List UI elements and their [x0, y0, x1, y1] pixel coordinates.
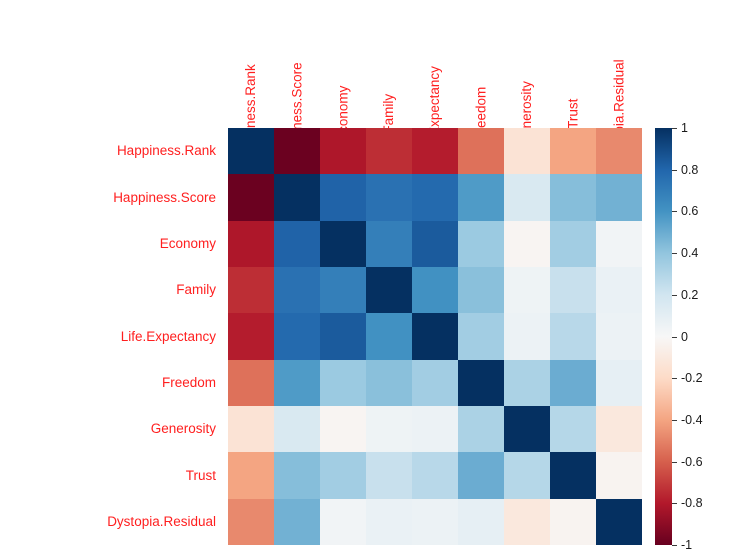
x-tick-label-happiness-rank: Happiness.Rank — [228, 0, 274, 120]
heatmap-cell — [274, 221, 320, 267]
colorbar-legend: 10.80.60.40.20-0.2-0.4-0.6-0.8-1 — [655, 128, 735, 545]
heatmap-cell — [550, 360, 596, 406]
x-tick-label-dystopia-residual: Dystopia.Residual — [596, 0, 642, 120]
heatmap-cell — [320, 267, 366, 313]
heatmap-cell — [274, 452, 320, 498]
colorbar-tick-mark — [672, 337, 677, 338]
heatmap-cell — [366, 221, 412, 267]
heatmap-cell — [320, 128, 366, 174]
colorbar-tick-label: 0.8 — [681, 163, 698, 176]
heatmap-cell — [596, 406, 642, 452]
heatmap-cell — [550, 313, 596, 359]
colorbar-tick-mark — [672, 462, 677, 463]
heatmap-cell — [412, 221, 458, 267]
x-tick-label-text: Trust — [566, 98, 580, 128]
heatmap-cell — [596, 267, 642, 313]
x-tick-label-trust: Trust — [550, 0, 596, 120]
heatmap-cell — [274, 128, 320, 174]
heatmap-cell — [504, 267, 550, 313]
heatmap-cell — [596, 174, 642, 220]
heatmap-cell — [274, 313, 320, 359]
heatmap-cell — [504, 174, 550, 220]
heatmap-cell — [504, 406, 550, 452]
colorbar-gradient — [655, 128, 672, 545]
heatmap-cell — [320, 452, 366, 498]
y-tick-label-economy: Economy — [160, 221, 216, 267]
x-tick-label-freedom: Freedom — [458, 0, 504, 120]
heatmap-cell — [366, 174, 412, 220]
heatmap-cell — [320, 313, 366, 359]
heatmap-cell — [228, 499, 274, 545]
heatmap-cell — [228, 406, 274, 452]
heatmap-cell — [504, 499, 550, 545]
colorbar-tick-label: 0.4 — [681, 247, 698, 260]
heatmap-cell — [596, 499, 642, 545]
y-tick-label-freedom: Freedom — [162, 360, 216, 406]
x-tick-label-happiness-score: Happiness.Score — [274, 0, 320, 120]
colorbar-tick-label: -0.2 — [681, 372, 703, 385]
heatmap-cell — [366, 499, 412, 545]
colorbar-tick-label: 1 — [681, 122, 688, 135]
heatmap-cell — [458, 406, 504, 452]
heatmap-cell — [458, 360, 504, 406]
heatmap-cell — [228, 174, 274, 220]
heatmap-cell — [366, 406, 412, 452]
heatmap-cell — [274, 360, 320, 406]
heatmap-grid — [228, 128, 642, 545]
heatmap-cell — [550, 452, 596, 498]
heatmap-cell — [504, 221, 550, 267]
heatmap-cell — [320, 499, 366, 545]
heatmap-cell — [412, 360, 458, 406]
heatmap-cell — [228, 128, 274, 174]
heatmap-cell — [596, 452, 642, 498]
x-tick-label-generosity: Generosity — [504, 0, 550, 120]
heatmap-cell — [320, 174, 366, 220]
y-tick-label-trust: Trust — [186, 452, 216, 498]
heatmap-cell — [228, 452, 274, 498]
colorbar-tick-label: -1 — [681, 539, 692, 552]
x-tick-label-family: Family — [366, 0, 412, 120]
heatmap-cell — [458, 499, 504, 545]
x-tick-label-economy: Economy — [320, 0, 366, 120]
y-tick-label-family: Family — [176, 267, 216, 313]
colorbar-tick-label: -0.8 — [681, 497, 703, 510]
heatmap-cell — [550, 499, 596, 545]
heatmap-cell — [550, 267, 596, 313]
colorbar-tick-label: -0.6 — [681, 455, 703, 468]
heatmap-cell — [550, 174, 596, 220]
y-tick-label-happiness-score: Happiness.Score — [113, 174, 216, 220]
colorbar-tick-mark — [672, 295, 677, 296]
heatmap-cell — [458, 221, 504, 267]
colorbar-tick-mark — [672, 170, 677, 171]
heatmap-cell — [412, 267, 458, 313]
heatmap-cell — [274, 406, 320, 452]
heatmap-cell — [366, 360, 412, 406]
heatmap-cell — [366, 267, 412, 313]
heatmap-cell — [504, 452, 550, 498]
heatmap-cell — [596, 221, 642, 267]
heatmap-cell — [550, 406, 596, 452]
correlation-heatmap-figure: Happiness.RankHappiness.ScoreEconomyFami… — [0, 0, 740, 555]
heatmap-cell — [274, 267, 320, 313]
colorbar-tick-mark — [672, 211, 677, 212]
heatmap-cell — [412, 499, 458, 545]
heatmap-cell — [320, 221, 366, 267]
heatmap-cell — [504, 128, 550, 174]
colorbar-tick-label: 0.2 — [681, 289, 698, 302]
heatmap-cell — [228, 313, 274, 359]
y-tick-label-happiness-rank: Happiness.Rank — [117, 128, 216, 174]
heatmap-cell — [458, 267, 504, 313]
heatmap-cell — [550, 221, 596, 267]
heatmap-cell — [458, 174, 504, 220]
heatmap-cell — [228, 221, 274, 267]
heatmap-cell — [412, 452, 458, 498]
colorbar-tick-label: 0.6 — [681, 205, 698, 218]
colorbar-tick-mark — [672, 253, 677, 254]
heatmap-cell — [412, 128, 458, 174]
heatmap-cell — [366, 128, 412, 174]
x-tick-label-life-expectancy: Life.Expectancy — [412, 0, 458, 120]
colorbar-tick-mark — [672, 378, 677, 379]
heatmap-cell — [412, 406, 458, 452]
y-tick-label-generosity: Generosity — [151, 406, 216, 452]
y-axis-tick-labels: Happiness.RankHappiness.ScoreEconomyFami… — [0, 128, 222, 545]
heatmap-cell — [458, 128, 504, 174]
heatmap-cell — [228, 360, 274, 406]
colorbar-tick-mark — [672, 128, 677, 129]
heatmap-cell — [596, 128, 642, 174]
heatmap-cell — [550, 128, 596, 174]
heatmap-cell — [596, 313, 642, 359]
heatmap-cell — [458, 313, 504, 359]
heatmap-cell — [412, 174, 458, 220]
colorbar-tick-mark — [672, 503, 677, 504]
heatmap-cell — [320, 360, 366, 406]
heatmap-cell — [412, 313, 458, 359]
heatmap-cell — [274, 499, 320, 545]
heatmap-cell — [366, 313, 412, 359]
x-axis-tick-labels: Happiness.RankHappiness.ScoreEconomyFami… — [228, 0, 642, 124]
heatmap-cell — [596, 360, 642, 406]
y-tick-label-life-expectancy: Life.Expectancy — [121, 313, 216, 359]
colorbar-tick-label: -0.4 — [681, 414, 703, 427]
colorbar-tick-mark — [672, 545, 677, 546]
heatmap-cell — [366, 452, 412, 498]
heatmap-cell — [228, 267, 274, 313]
colorbar-tick-mark — [672, 420, 677, 421]
heatmap-cell — [458, 452, 504, 498]
heatmap-cell — [504, 313, 550, 359]
colorbar-tick-label: 0 — [681, 330, 688, 343]
y-tick-label-dystopia-residual: Dystopia.Residual — [107, 499, 216, 545]
heatmap-cell — [274, 174, 320, 220]
heatmap-cell — [504, 360, 550, 406]
heatmap-cell — [320, 406, 366, 452]
